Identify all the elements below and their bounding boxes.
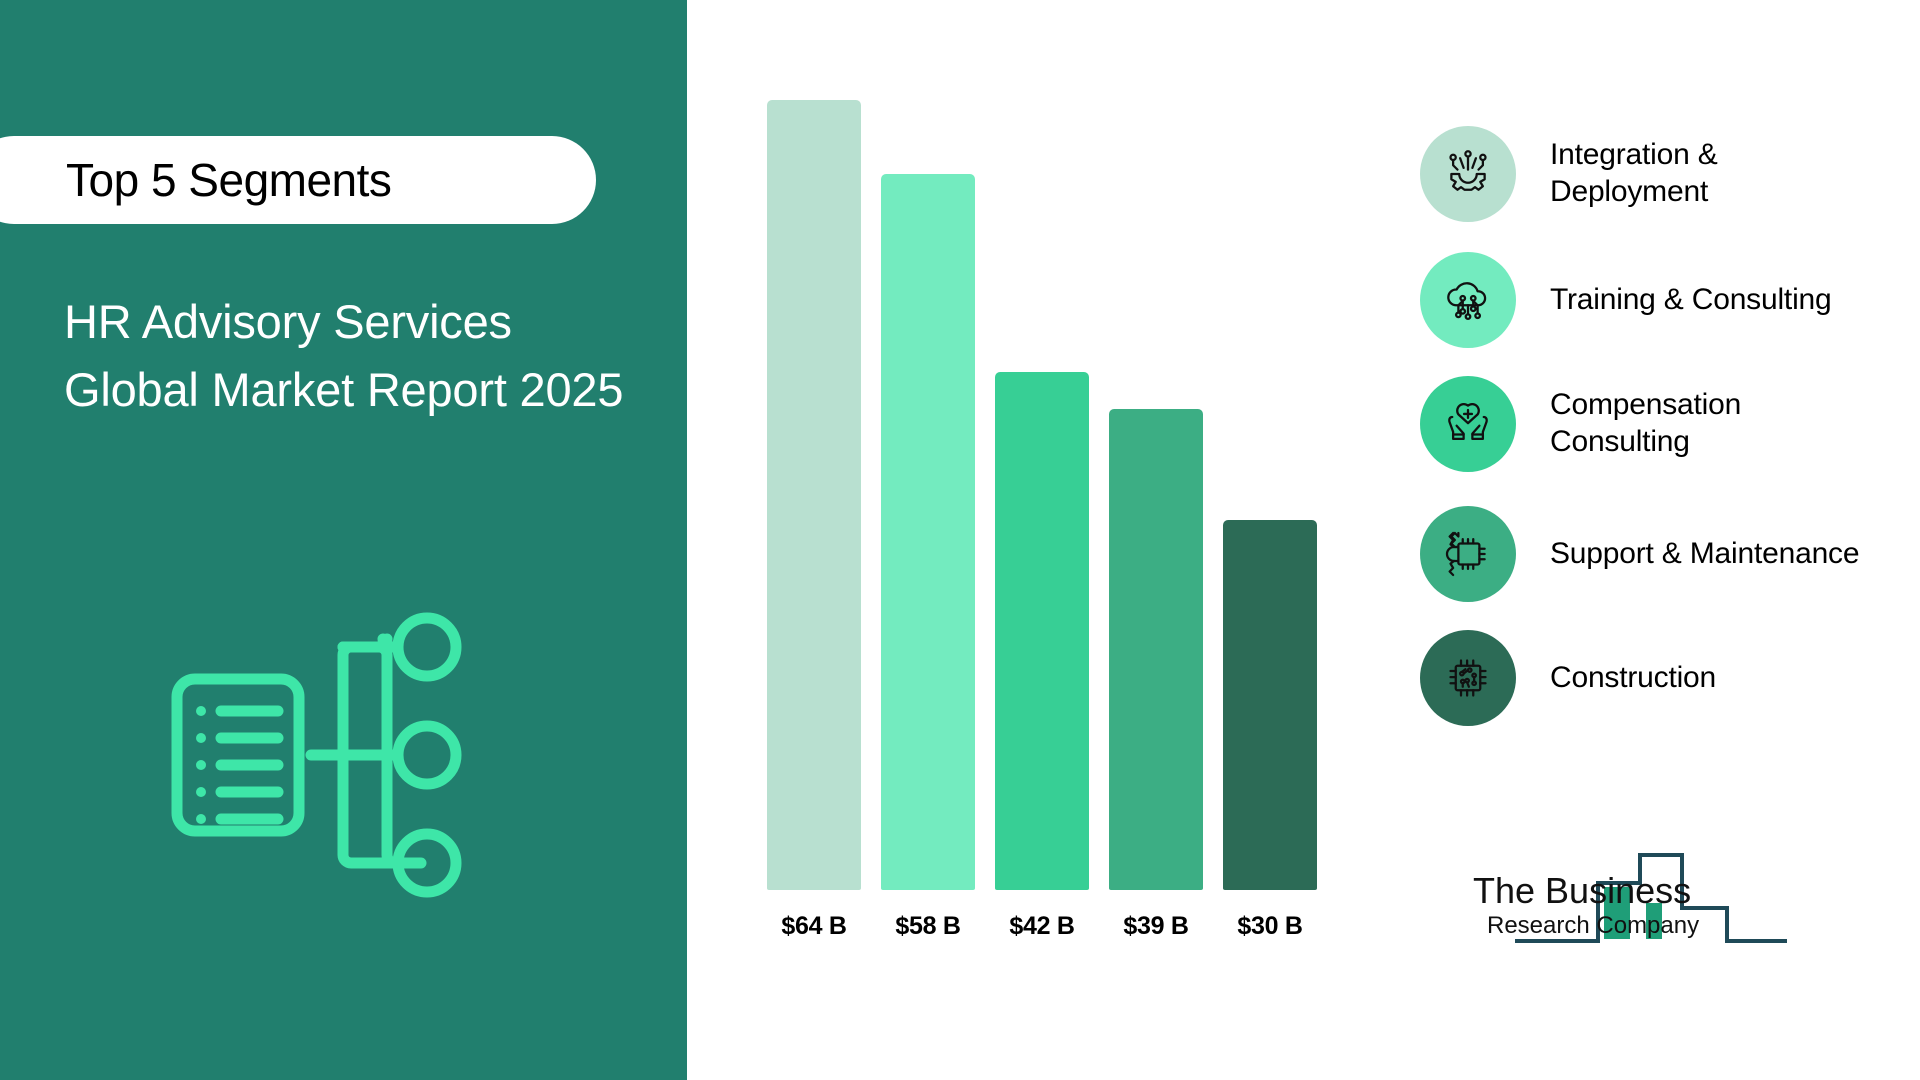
legend-item-label: Construction (1550, 660, 1716, 697)
chip-gear-icon (1420, 506, 1516, 602)
list-hierarchy-icon (165, 585, 500, 920)
legend-item-label: Compensation Consulting (1550, 387, 1810, 460)
hands-heart-care-icon (1420, 376, 1516, 472)
bar-rect (1109, 409, 1203, 890)
legend-item-label: Training & Consulting (1550, 282, 1832, 319)
left-panel: Top 5 Segments HR Advisory Services Glob… (0, 0, 687, 1080)
badge-label: Top 5 Segments (66, 153, 391, 207)
company-logo: The Business Research Company (1465, 845, 1795, 955)
legend-item-3[interactable]: Compensation Consulting (1420, 376, 1920, 472)
cloud-circuit-icon (1420, 252, 1516, 348)
legend-item-label: Support & Maintenance (1550, 536, 1859, 573)
bar-value-label: $58 B (881, 912, 975, 941)
legend-item-5[interactable]: Construction (1420, 630, 1920, 726)
bar-5 (1223, 100, 1317, 890)
bar-value-label: $39 B (1109, 912, 1203, 941)
infographic-page: Top 5 Segments HR Advisory Services Glob… (0, 0, 1920, 1080)
page-title: HR Advisory Services Global Market Repor… (64, 288, 644, 424)
bar-rect (767, 100, 861, 890)
bar-3 (995, 100, 1089, 890)
bar-1 (767, 100, 861, 890)
microchip-circuit-icon (1420, 630, 1516, 726)
bar-2 (881, 100, 975, 890)
legend-item-4[interactable]: Support & Maintenance (1420, 506, 1920, 602)
bar-value-label: $30 B (1223, 912, 1317, 941)
logo-line-2: Research Company (1487, 912, 1699, 939)
bar-4 (1109, 100, 1203, 890)
top-segments-badge: Top 5 Segments (0, 136, 596, 224)
bar-value-label: $64 B (767, 912, 861, 941)
bar-rect (881, 174, 975, 890)
bars-container: $64 B$58 B$42 B$39 B$30 B (767, 100, 1327, 890)
bar-value-label: $42 B (995, 912, 1089, 941)
bar-rect (1223, 520, 1317, 890)
circuit-gear-icon (1420, 126, 1516, 222)
logo-line-1: The Business (1473, 870, 1691, 911)
legend-item-label: Integration & Deployment (1550, 137, 1810, 210)
bar-rect (995, 372, 1089, 890)
legend-item-2[interactable]: Training & Consulting (1420, 252, 1920, 348)
legend-item-1[interactable]: Integration & Deployment (1420, 126, 1920, 222)
